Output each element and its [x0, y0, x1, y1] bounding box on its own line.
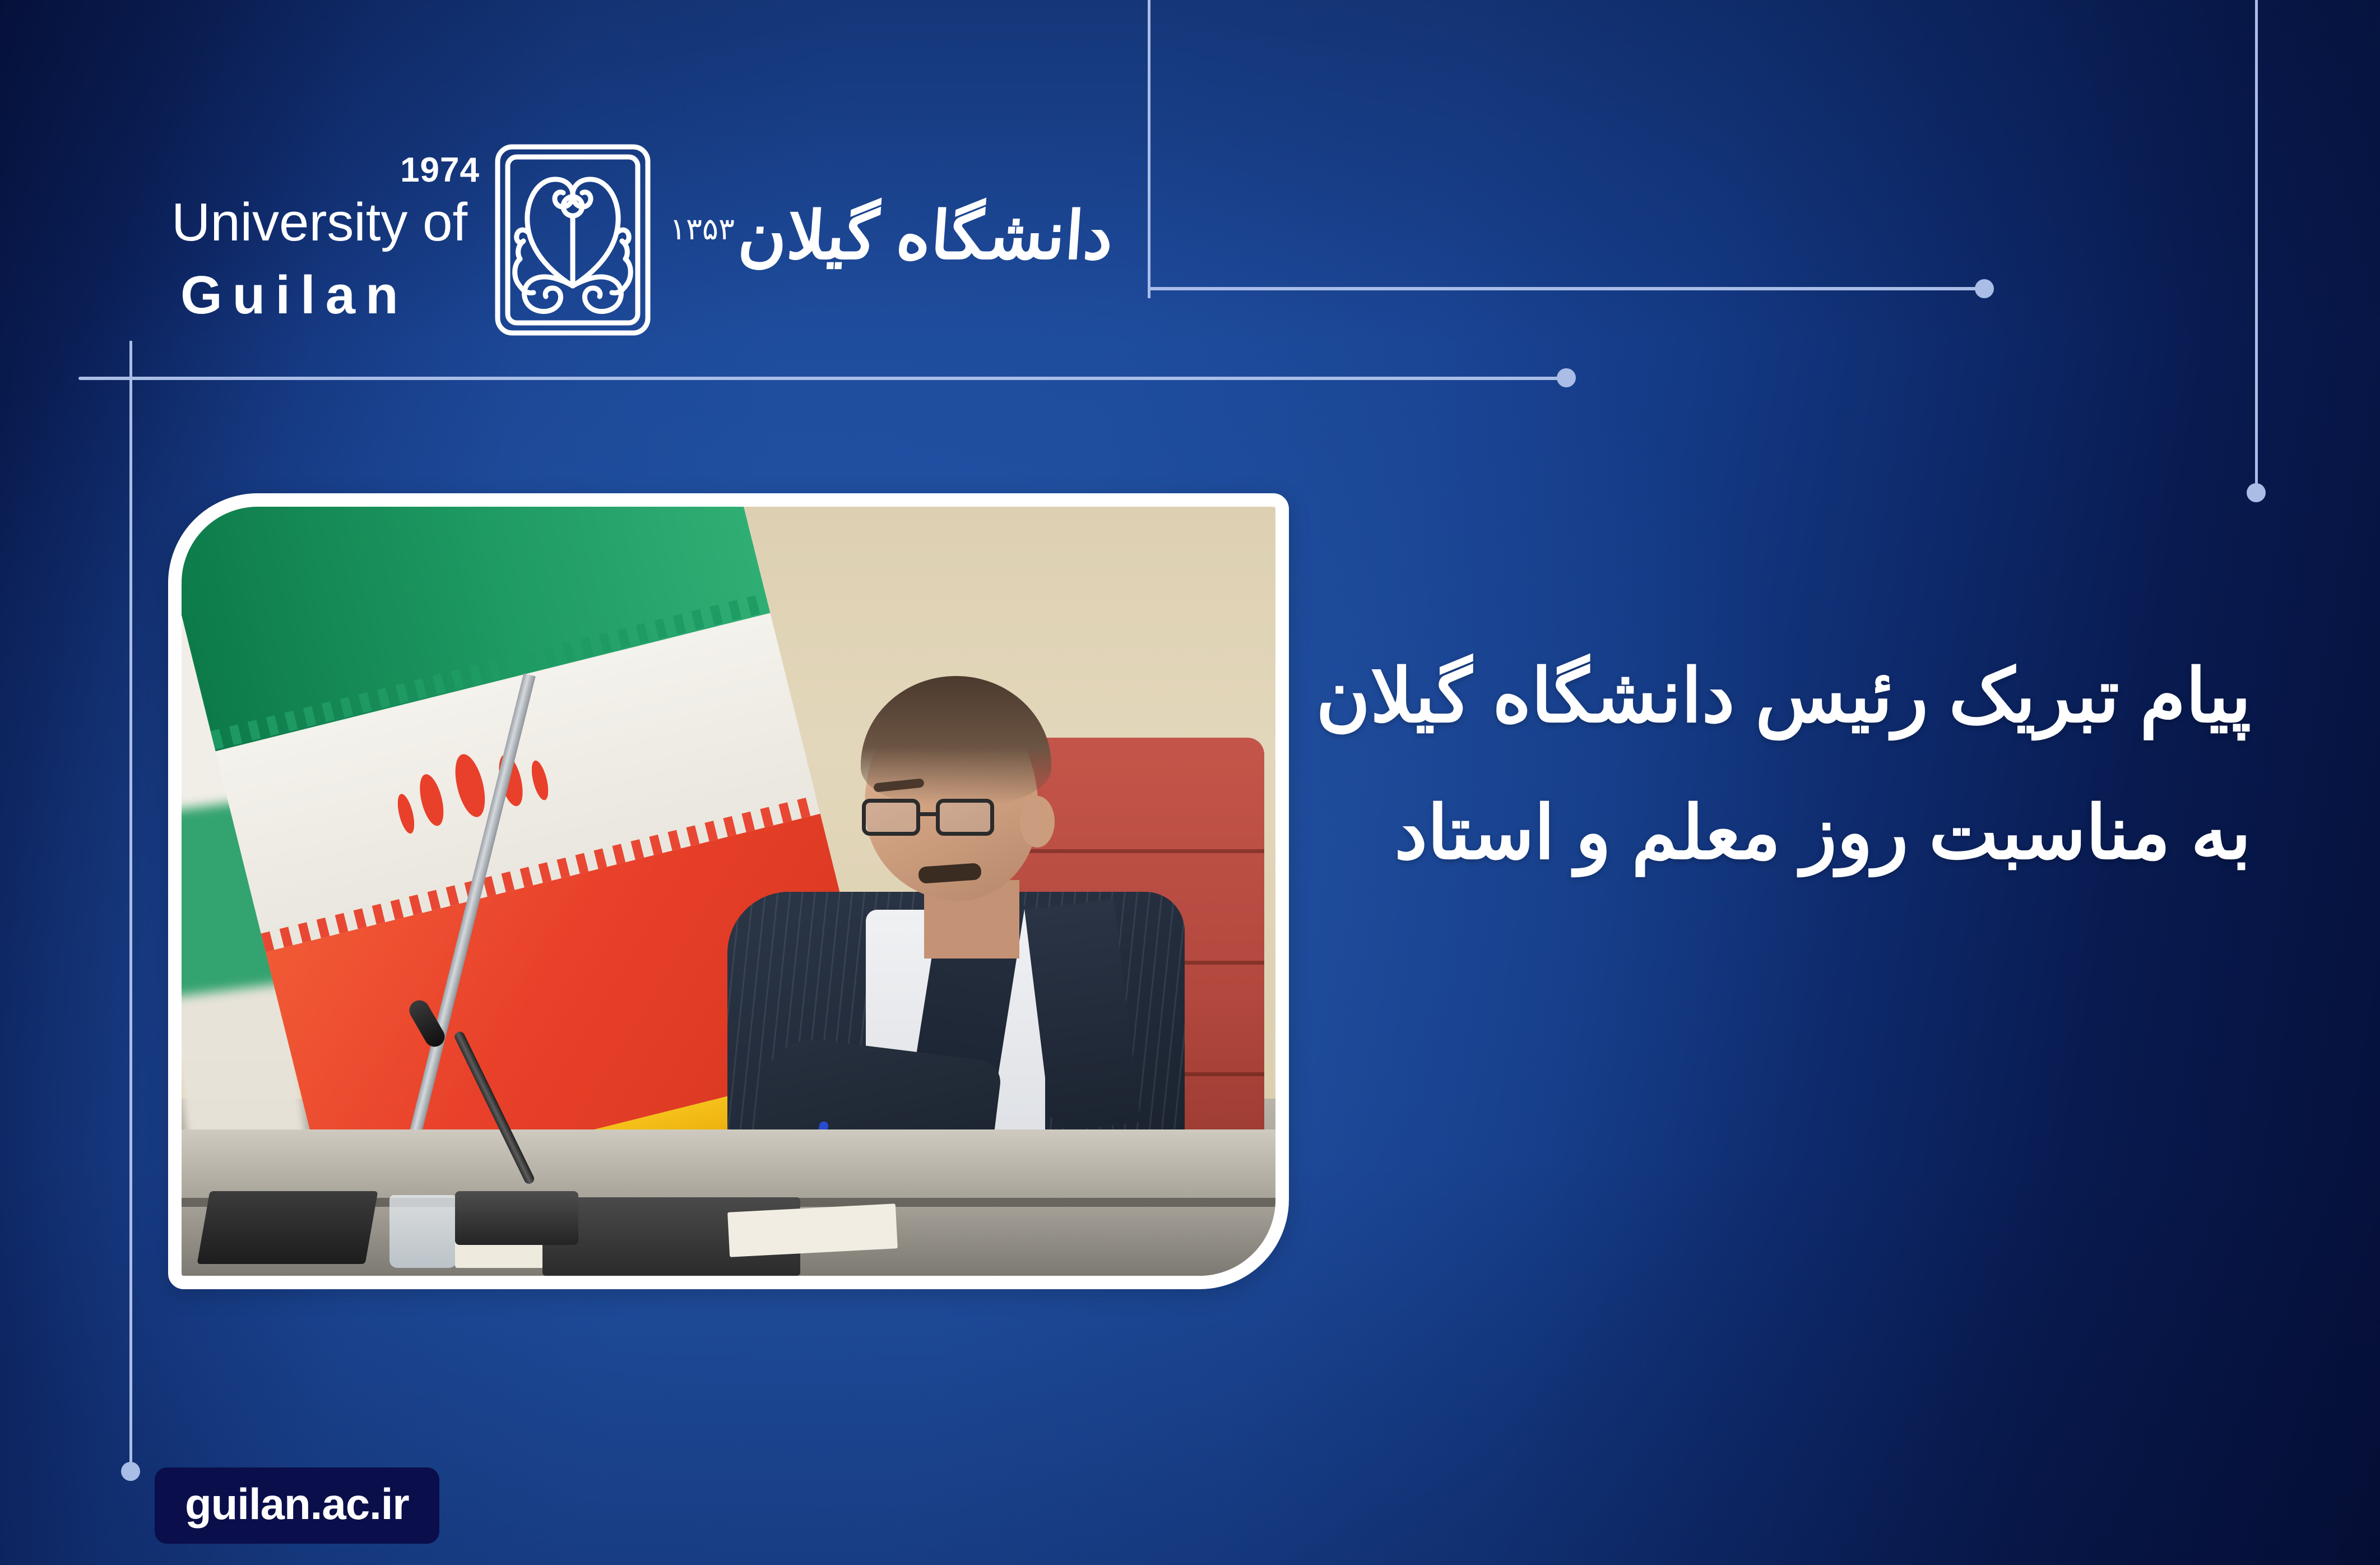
website-url-badge[interactable]: guilan.ac.ir [155, 1467, 439, 1544]
desk-folder [197, 1191, 378, 1264]
decor-dot-far-right [2247, 483, 2266, 502]
decor-dot-under-logo [1557, 368, 1576, 387]
microphone-base [455, 1191, 578, 1245]
logo-english-text-block: 1974 University of Guilan [168, 142, 482, 338]
decor-vertical-line-far-right [2255, 0, 2258, 489]
university-logo-lockup[interactable]: 1974 University of Guilan [168, 128, 1154, 352]
eyeglasses-icon [862, 799, 994, 838]
logo-founded-year-fa: ۱۳۵۳ [660, 211, 744, 247]
logo-name-line1-en: University of [171, 196, 467, 249]
decor-vertical-line-left [129, 341, 132, 1469]
banner-stage: 1974 University of Guilan [0, 0, 2380, 1565]
notepad [727, 1203, 898, 1257]
decor-dot-left-bottom [121, 1462, 140, 1481]
logo-name-line2-en: Guilan [180, 268, 409, 322]
headline-line-1: پیام تبریک رئیس دانشگاه گیلان [1209, 628, 2251, 765]
headline-block: پیام تبریک رئیس دانشگاه گیلان به مناسبت … [1209, 628, 2251, 901]
eyeglass-lens-left [862, 799, 920, 836]
decor-dot-top-right [1975, 279, 1994, 298]
photo-scene [182, 507, 1275, 1276]
headline-line-2: به مناسبت روز معلم و استاد [1209, 765, 2251, 901]
decor-horizontal-line-top-right [1148, 287, 1984, 290]
decor-horizontal-line-under-logo [78, 377, 1565, 380]
featured-photo-card[interactable] [168, 493, 1289, 1289]
guilan-butterfly-emblem-icon [489, 139, 662, 341]
logo-name-fa: دانشگاه گیلان [736, 197, 1116, 274]
eyeglass-lens-right [936, 799, 994, 836]
eyeglass-bridge [920, 812, 936, 816]
desk-glass [389, 1195, 457, 1268]
logo-founded-year-en: 1974 [400, 153, 480, 188]
ear [1020, 796, 1055, 848]
